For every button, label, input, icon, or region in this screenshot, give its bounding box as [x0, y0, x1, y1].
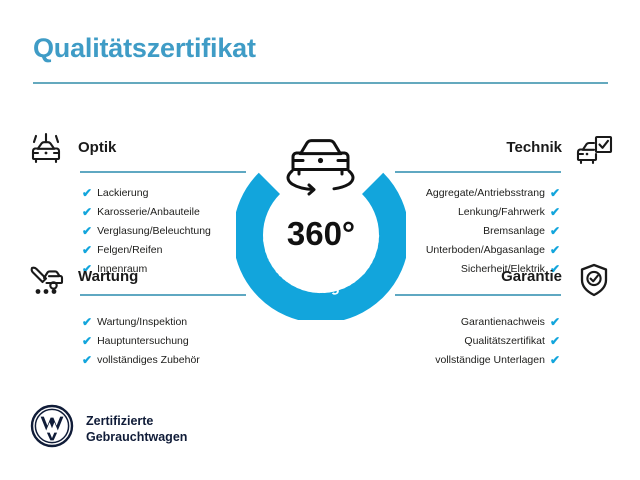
list-item: ✔Hauptuntersuchung [82, 331, 252, 350]
footer-line-1: Zertifizierte [86, 414, 153, 428]
car-shine-icon [22, 130, 70, 174]
check-icon: ✔ [82, 354, 92, 366]
footer-brand-text: Zertifizierte Gebrauchtwagen [86, 413, 187, 445]
check-icon: ✔ [82, 206, 92, 218]
garantie-check-list: Garantienachweis✔ Qualitätszertifikat✔ v… [388, 312, 560, 369]
check-icon: ✔ [550, 225, 560, 237]
list-item: ✔Wartung/Inspektion [82, 312, 252, 331]
section-technik: Technik Aggregate/Antriebsstrang✔ Lenkun… [388, 130, 618, 278]
page-title: Qualitätszertifikat [33, 33, 256, 64]
wrench-car-service-icon [22, 259, 70, 303]
list-item-label: Qualitätszertifikat [464, 335, 545, 347]
list-item-label: Garantienachweis [461, 316, 545, 328]
list-item: vollständige Unterlagen✔ [388, 350, 560, 369]
section-title-wartung: Wartung [70, 259, 146, 295]
check-icon: ✔ [550, 354, 560, 366]
check-icon: ✔ [550, 316, 560, 328]
list-item: Unterboden/Abgasanlage✔ [388, 240, 560, 259]
list-item: ✔Verglasung/Beleuchtung [82, 221, 252, 240]
section-garantie: Garantie Garantienachweis✔ Qualitätszert… [388, 259, 618, 369]
footer-brand-lockup: Zertifizierte Gebrauchtwagen [30, 404, 187, 453]
check-icon: ✔ [82, 335, 92, 347]
list-item: Bremsanlage✔ [388, 221, 560, 240]
list-item-label: Felgen/Reifen [97, 244, 162, 256]
check-icon: ✔ [82, 244, 92, 256]
section-title-technik: Technik [498, 130, 570, 166]
check-icon: ✔ [550, 335, 560, 347]
car-checkbox-icon [570, 130, 618, 174]
list-item-label: Karosserie/Anbauteile [97, 206, 200, 218]
list-item-label: Lenkung/Fahrwerk [458, 206, 545, 218]
section-title-optik: Optik [70, 130, 124, 166]
list-item: Aggregate/Antriebsstrang✔ [388, 183, 560, 202]
list-item-label: Unterboden/Abgasanlage [426, 244, 545, 256]
list-item-label: Aggregate/Antriebsstrang [426, 187, 545, 199]
check-icon: ✔ [82, 187, 92, 199]
check-icon: ✔ [82, 225, 92, 237]
badge-center-label: 360° [287, 215, 355, 252]
list-item-label: Bremsanlage [483, 225, 545, 237]
list-item: ✔Felgen/Reifen [82, 240, 252, 259]
list-item-label: Verglasung/Beleuchtung [97, 225, 211, 237]
check-icon: ✔ [550, 206, 560, 218]
list-item: ✔vollständiges Zubehör [82, 350, 252, 369]
check-icon: ✔ [550, 187, 560, 199]
section-optik: Optik ✔Lackierung ✔Karosserie/Anbauteile… [22, 130, 252, 278]
wartung-check-list: ✔Wartung/Inspektion ✔Hauptuntersuchung ✔… [82, 312, 252, 369]
list-item-label: Lackierung [97, 187, 148, 199]
title-divider [33, 82, 608, 84]
list-item-label: vollständiges Zubehör [97, 354, 200, 366]
check-icon: ✔ [82, 316, 92, 328]
car-rotate-360-icon [288, 141, 353, 194]
list-item-label: vollständige Unterlagen [435, 354, 545, 366]
footer-line-2: Gebrauchtwagen [86, 430, 187, 444]
check-icon: ✔ [550, 244, 560, 256]
badge-360-gebrauchtwagen-check: Gebrauchtwagen-Check 360° [236, 120, 406, 320]
list-item: ✔Karosserie/Anbauteile [82, 202, 252, 221]
list-item: Lenkung/Fahrwerk✔ [388, 202, 560, 221]
list-item: ✔Lackierung [82, 183, 252, 202]
list-item: Qualitätszertifikat✔ [388, 331, 560, 350]
shield-check-icon [570, 259, 618, 303]
section-wartung: Wartung ✔Wartung/Inspektion ✔Hauptunters… [22, 259, 252, 369]
list-item-label: Wartung/Inspektion [97, 316, 187, 328]
vw-logo [30, 404, 74, 453]
list-item: Garantienachweis✔ [388, 312, 560, 331]
section-title-garantie: Garantie [493, 259, 570, 295]
list-item-label: Hauptuntersuchung [97, 335, 189, 347]
